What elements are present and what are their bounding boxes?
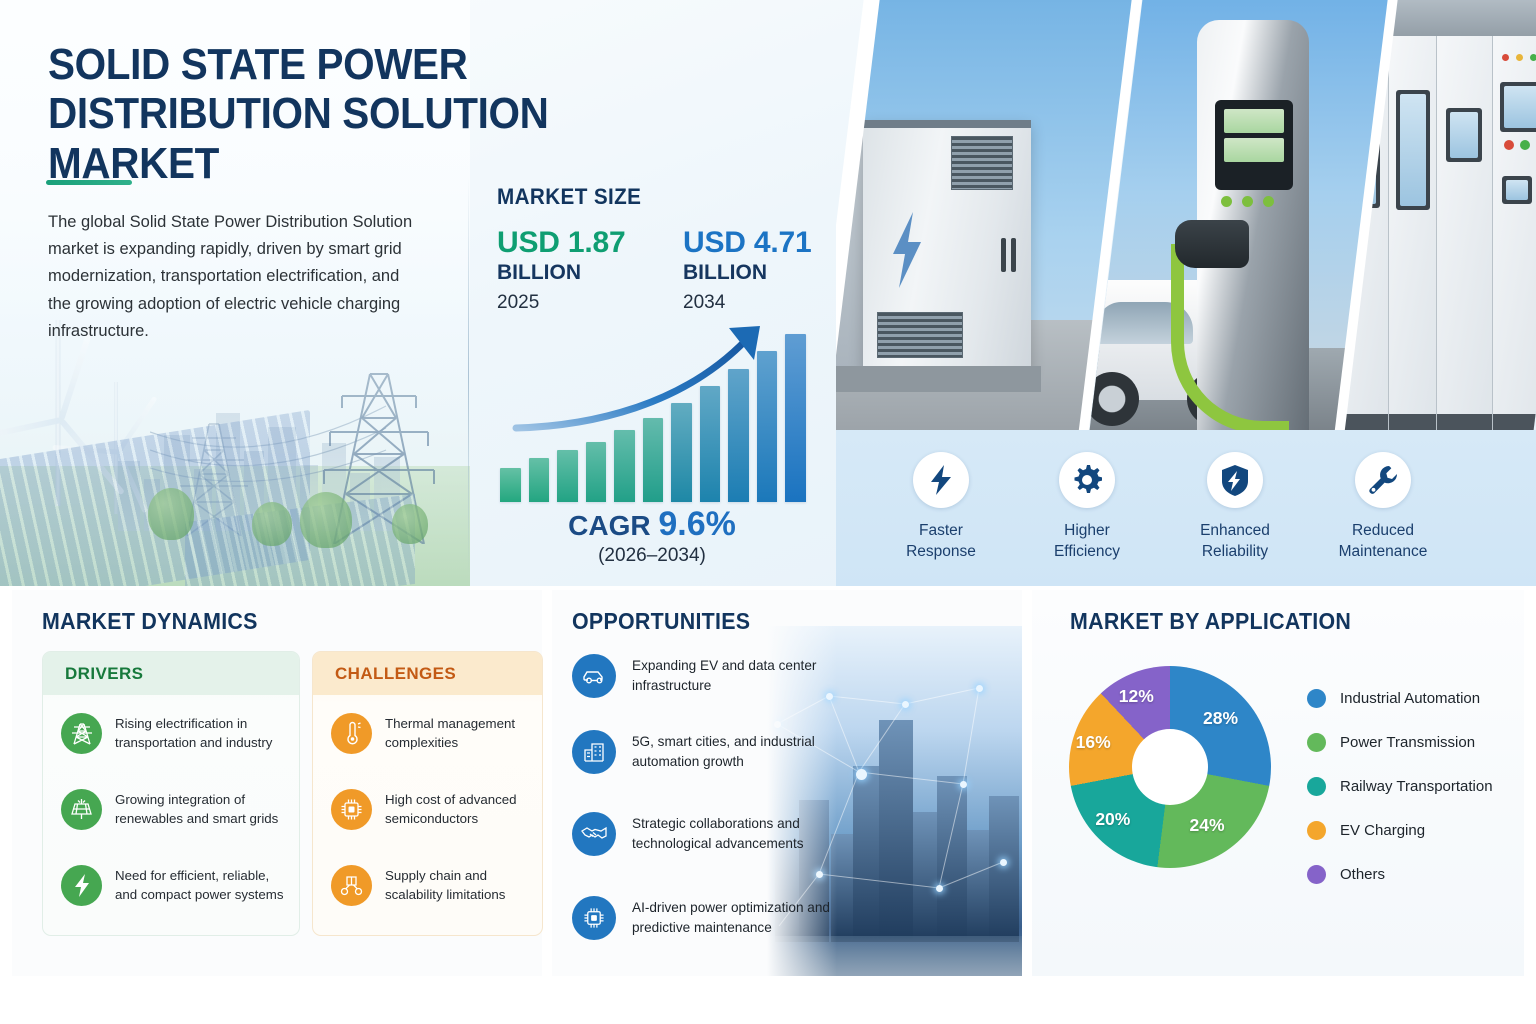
lightning-bolt-icon	[887, 210, 927, 290]
lower-section: MARKET DYNAMICS DRIVERS Rising electrifi…	[0, 586, 1536, 1024]
market-dynamics-heading: MARKET DYNAMICS	[42, 608, 258, 635]
donut-slice-label: 20%	[1095, 809, 1130, 830]
hero-section: SOLID STATE POWER DISTRIBUTION SOLUTION …	[0, 0, 1536, 586]
bar	[728, 369, 749, 502]
challenge-item[interactable]: Supply chain and scalability limitations	[313, 847, 542, 923]
bolt-icon	[61, 865, 102, 906]
bar	[529, 458, 550, 502]
challenge-text: Thermal management complexities	[385, 714, 528, 753]
cagr-value: 9.6%	[658, 505, 736, 543]
driver-item[interactable]: Rising electrification in transportation…	[43, 695, 299, 771]
car-icon	[572, 654, 616, 698]
market-size-base-unit: BILLION	[497, 261, 581, 285]
driver-text: Rising electrification in transportation…	[115, 714, 285, 753]
wrench-icon	[1355, 452, 1411, 508]
driver-item[interactable]: Need for efficient, reliable, and compac…	[43, 847, 299, 923]
legend-item[interactable]: EV Charging	[1307, 808, 1493, 852]
opportunity-text: 5G, smart cities, and industrial automat…	[632, 732, 840, 771]
donut-slice-label: 12%	[1119, 686, 1154, 707]
benefit-label-line1: Reduced	[1352, 522, 1414, 539]
legend-item[interactable]: Industrial Automation	[1307, 676, 1493, 720]
benefit-label-line1: Faster	[919, 522, 963, 539]
benefit-label-line2: Efficiency	[1054, 543, 1120, 560]
bar	[757, 351, 778, 502]
opportunity-item[interactable]: Strategic collaborations and technologic…	[572, 812, 840, 856]
opportunities-heading: OPPORTUNITIES	[572, 608, 750, 635]
market-size-heading: MARKET SIZE	[497, 184, 641, 210]
bar	[500, 468, 521, 502]
driver-text: Growing integration of renewables and sm…	[115, 790, 285, 829]
market-size-base-value: USD 1.87	[497, 226, 625, 260]
opportunity-item[interactable]: 5G, smart cities, and industrial automat…	[572, 730, 840, 774]
benefit-label-line2: Maintenance	[1339, 543, 1428, 560]
market-size-forecast-year: 2034	[683, 292, 725, 314]
legend-label: Others	[1340, 866, 1385, 883]
benefit-label-line1: Higher	[1064, 522, 1110, 539]
solar-panel-icon	[61, 789, 102, 830]
benefit-label-line2: Response	[906, 543, 976, 560]
market-dynamics-card: MARKET DYNAMICS DRIVERS Rising electrifi…	[12, 590, 542, 976]
buildings-icon	[572, 730, 616, 774]
cagr-callout: CAGR 9.6%	[492, 505, 812, 544]
challenge-item[interactable]: Thermal management complexities	[313, 695, 542, 771]
power-tower-icon	[61, 713, 102, 754]
cagr-label: CAGR	[568, 510, 650, 541]
intro-description: The global Solid State Power Distributio…	[48, 209, 420, 345]
opportunity-text: Expanding EV and data center infrastruct…	[632, 656, 840, 695]
hero-photo-strip	[836, 0, 1536, 430]
legend-swatch	[1307, 821, 1326, 840]
legend-label: Railway Transportation	[1340, 778, 1493, 795]
chip-icon	[572, 896, 616, 940]
gear-icon	[1059, 452, 1115, 508]
benefit-label-line2: Reliability	[1202, 543, 1268, 560]
bar	[671, 403, 692, 502]
drivers-card: DRIVERS Rising electrification in transp…	[42, 651, 300, 936]
bar	[614, 430, 635, 502]
application-donut-chart	[1069, 666, 1271, 868]
benefit-reduced-maintenance[interactable]: ReducedMaintenance	[1308, 452, 1458, 563]
driver-text: Need for efficient, reliable, and compac…	[115, 866, 285, 905]
driver-item[interactable]: Growing integration of renewables and sm…	[43, 771, 299, 847]
legend-label: EV Charging	[1340, 822, 1425, 839]
handshake-icon	[572, 812, 616, 856]
vertical-divider	[468, 176, 469, 576]
opportunities-card: OPPORTUNITIES Expanding EV and data cent…	[552, 590, 1022, 976]
benefits-bar: FasterResponse HigherEfficiency	[836, 430, 1536, 586]
legend-swatch	[1307, 689, 1326, 708]
bar	[586, 442, 607, 502]
legend-swatch	[1307, 865, 1326, 884]
cagr-period: (2026–2034)	[492, 545, 812, 567]
page-title: SOLID STATE POWER DISTRIBUTION SOLUTION …	[48, 40, 710, 188]
challenges-heading: CHALLENGES	[313, 652, 542, 695]
bar	[557, 450, 578, 502]
infographic-page: SOLID STATE POWER DISTRIBUTION SOLUTION …	[0, 0, 1536, 1024]
market-size-forecast-unit: BILLION	[683, 261, 767, 285]
donut-slice-label: 24%	[1189, 815, 1224, 836]
opportunity-item[interactable]: AI-driven power optimization and predict…	[572, 896, 840, 940]
market-by-application-heading: MARKET BY APPLICATION	[1070, 608, 1351, 635]
legend-label: Industrial Automation	[1340, 690, 1480, 707]
thermometer-icon	[331, 713, 372, 754]
opportunity-text: AI-driven power optimization and predict…	[632, 898, 840, 937]
challenges-card: CHALLENGES Thermal management complexiti…	[312, 651, 543, 936]
bar	[700, 386, 721, 502]
legend-swatch	[1307, 733, 1326, 752]
benefit-enhanced-reliability[interactable]: EnhancedReliability	[1160, 452, 1310, 563]
challenge-text: High cost of advanced semiconductors	[385, 790, 528, 829]
supply-chain-icon	[331, 865, 372, 906]
donut-slice-label: 28%	[1203, 708, 1238, 729]
legend-item[interactable]: Others	[1307, 852, 1493, 896]
title-underline	[46, 180, 132, 185]
challenge-item[interactable]: High cost of advanced semiconductors	[313, 771, 542, 847]
bolt-icon	[913, 452, 969, 508]
challenge-text: Supply chain and scalability limitations	[385, 866, 528, 905]
benefit-label-line1: Enhanced	[1200, 522, 1270, 539]
market-size-base-year: 2025	[497, 292, 539, 314]
legend-item[interactable]: Railway Transportation	[1307, 764, 1493, 808]
legend-item[interactable]: Power Transmission	[1307, 720, 1493, 764]
donut-legend: Industrial AutomationPower TransmissionR…	[1307, 676, 1493, 896]
benefit-higher-efficiency[interactable]: HigherEfficiency	[1012, 452, 1162, 563]
opportunity-item[interactable]: Expanding EV and data center infrastruct…	[572, 654, 840, 698]
legend-swatch	[1307, 777, 1326, 796]
shield-bolt-icon	[1207, 452, 1263, 508]
donut-slice-label: 16%	[1076, 732, 1111, 753]
market-size-forecast-value: USD 4.71	[683, 226, 811, 260]
drivers-heading: DRIVERS	[43, 652, 299, 695]
legend-label: Power Transmission	[1340, 734, 1475, 751]
bar	[785, 334, 806, 502]
benefit-faster-response[interactable]: FasterResponse	[866, 452, 1016, 563]
bar	[643, 418, 664, 502]
opportunity-text: Strategic collaborations and technologic…	[632, 814, 840, 853]
chip-icon	[331, 789, 372, 830]
bar-series	[500, 334, 806, 502]
growth-bar-chart	[492, 330, 812, 502]
